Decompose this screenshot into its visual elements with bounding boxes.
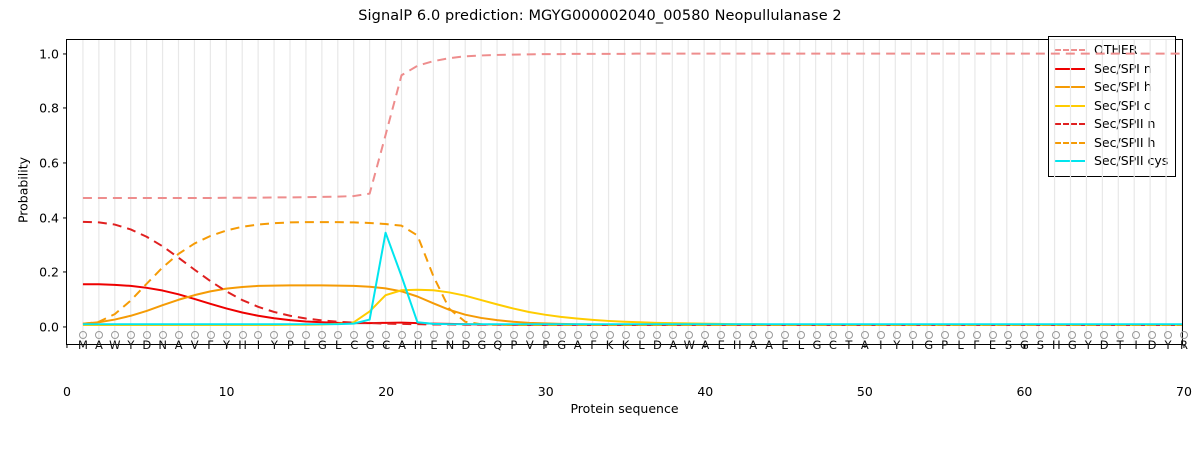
x-axis-label: Protein sequence <box>570 401 678 416</box>
residue-label: K <box>606 338 614 352</box>
residue-label: A <box>669 338 677 352</box>
y-tick-label: 0.6 <box>39 155 59 170</box>
y-tick-label: 0.2 <box>39 265 59 280</box>
residue-label: D <box>1148 338 1157 352</box>
y-tick-label: 0.8 <box>39 101 59 116</box>
chart-title: SignalP 6.0 prediction: MGYG000002040_00… <box>0 8 1200 24</box>
residue-label: W <box>684 338 695 352</box>
residue-label: P <box>941 338 948 352</box>
residue-label: F <box>973 338 980 352</box>
plot-area: MAWYDNAVFYHIYPLGLCGCAHENDGQPVPGAFKKLDAWA… <box>66 39 1183 345</box>
residue-label: I <box>1134 338 1137 352</box>
residue-label: G <box>318 338 327 352</box>
residue-label: P <box>542 338 549 352</box>
residue-label: I <box>911 338 914 352</box>
y-axis-label: Probability <box>16 157 31 223</box>
residue-label: C <box>350 338 358 352</box>
residue-label: G <box>1068 338 1077 352</box>
residue-label: S <box>1037 338 1044 352</box>
x-tick-mark <box>66 344 67 348</box>
residue-label: L <box>335 338 341 352</box>
residue-label: Y <box>893 338 900 352</box>
residue-label: H <box>414 338 423 352</box>
residue-label: L <box>957 338 963 352</box>
residue-label: G <box>813 338 822 352</box>
y-tick-label: 0.4 <box>39 210 59 225</box>
residue-label: W <box>109 338 120 352</box>
residue-label: Y <box>223 338 230 352</box>
residue-label: Q <box>493 338 502 352</box>
residue-label: Y <box>1165 338 1172 352</box>
residue-label: I <box>257 338 260 352</box>
residue-label: C <box>829 338 837 352</box>
x-tick-label: 20 <box>378 384 394 399</box>
x-tick-label: 60 <box>1016 384 1032 399</box>
residue-label: E <box>718 338 725 352</box>
residue-label: A <box>701 338 709 352</box>
residue-label: N <box>158 338 167 352</box>
residue-label: G <box>557 338 566 352</box>
residue-label: K <box>622 338 630 352</box>
residue-label: V <box>191 338 199 352</box>
residue-label: Y <box>271 338 278 352</box>
residue-label: L <box>303 338 309 352</box>
x-tick-label: 40 <box>697 384 713 399</box>
residue-label: M <box>78 338 88 352</box>
residue-label: Y <box>1085 338 1092 352</box>
residue-label: E <box>989 338 996 352</box>
residue-label: H <box>1052 338 1061 352</box>
residue-label: P <box>287 338 294 352</box>
signalp-prediction-figure: SignalP 6.0 prediction: MGYG000002040_00… <box>0 0 1200 450</box>
residue-label: P <box>510 338 517 352</box>
residue-label: D <box>461 338 470 352</box>
residue-label: F <box>207 338 214 352</box>
residue-marker-layer: MAWYDNAVFYHIYPLGLCGCAHENDGQPVPGAFKKLDAWA… <box>67 40 1182 344</box>
x-tick-label: 70 <box>1176 384 1192 399</box>
residue-label: A <box>574 338 582 352</box>
x-tick-label: 50 <box>857 384 873 399</box>
residue-label: A <box>749 338 757 352</box>
residue-label: A <box>398 338 406 352</box>
residue-label: E <box>781 338 788 352</box>
residue-label: E <box>430 338 437 352</box>
residue-label: A <box>175 338 183 352</box>
residue-label: A <box>95 338 103 352</box>
residue-label: L <box>798 338 804 352</box>
y-tick-label: 0.0 <box>39 319 59 334</box>
residue-label: D <box>142 338 151 352</box>
residue-label: F <box>590 338 597 352</box>
residue-label: G <box>924 338 933 352</box>
residue-label: D <box>1100 338 1109 352</box>
residue-label: G <box>477 338 486 352</box>
residue-label: S <box>1005 338 1012 352</box>
residue-label: T <box>845 338 852 352</box>
y-tick-label: 1.0 <box>39 46 59 61</box>
residue-label: H <box>733 338 742 352</box>
residue-label: V <box>526 338 534 352</box>
residue-label: L <box>638 338 644 352</box>
x-tick-label: 10 <box>219 384 235 399</box>
residue-label: C <box>382 338 390 352</box>
residue-label: D <box>653 338 662 352</box>
residue-label: Y <box>127 338 134 352</box>
residue-label: I <box>879 338 882 352</box>
residue-label: A <box>765 338 773 352</box>
residue-label: T <box>1117 338 1124 352</box>
residue-label: R <box>1180 338 1188 352</box>
residue-label: G <box>1020 338 1029 352</box>
residue-label: H <box>238 338 247 352</box>
x-tick-label: 0 <box>63 384 71 399</box>
residue-label: G <box>366 338 375 352</box>
x-tick-label: 30 <box>538 384 554 399</box>
residue-label: N <box>446 338 455 352</box>
residue-label: A <box>861 338 869 352</box>
